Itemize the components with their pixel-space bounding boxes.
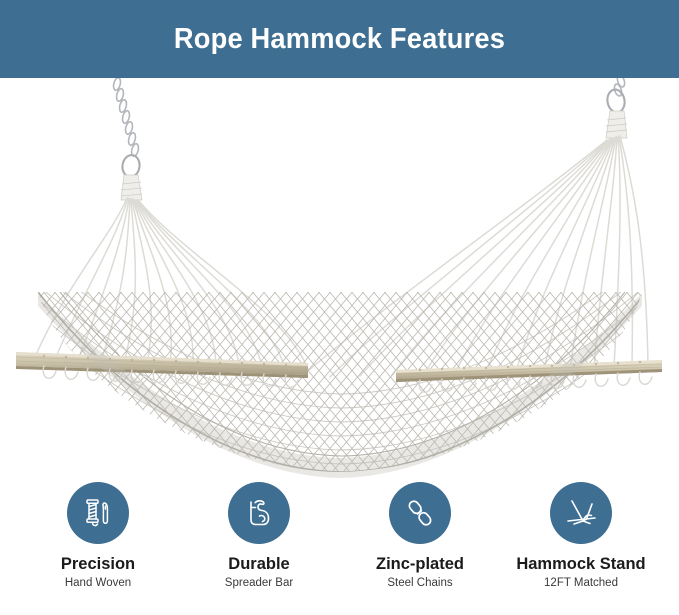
- feature-title: Durable: [228, 555, 289, 573]
- chain-links-icon: [402, 495, 438, 531]
- flexed-bicep-icon: [241, 495, 277, 531]
- feature-icon-badge: [228, 482, 290, 544]
- left-chain: [112, 78, 141, 178]
- right-chain: [606, 78, 627, 114]
- feature-title: Precision: [61, 555, 135, 573]
- feature-item-durable[interactable]: Durable Spreader Bar: [179, 482, 339, 591]
- right-gather-knot: [606, 111, 627, 138]
- thread-spool-needle-icon: [80, 495, 116, 531]
- feature-icon-badge: [67, 482, 129, 544]
- feature-list: Precision Hand Woven Durable Spreader Ba…: [0, 482, 679, 615]
- feature-subtitle: 12FT Matched: [544, 577, 618, 591]
- feature-item-hammock-stand[interactable]: Hammock Stand 12FT Matched: [501, 482, 661, 591]
- feature-icon-badge: [550, 482, 612, 544]
- feature-title: Zinc-plated: [376, 555, 464, 573]
- feature-item-zinc-plated[interactable]: Zinc-plated Steel Chains: [340, 482, 500, 591]
- feature-title: Hammock Stand: [516, 555, 645, 573]
- feature-subtitle: Steel Chains: [387, 577, 452, 591]
- feature-icon-badge: [389, 482, 451, 544]
- feature-subtitle: Hand Woven: [65, 577, 131, 591]
- feature-item-precision[interactable]: Precision Hand Woven: [18, 482, 178, 591]
- hammock-illustration: [0, 78, 679, 478]
- feature-subtitle: Spreader Bar: [225, 577, 293, 591]
- hammock-stand-icon: [562, 494, 600, 532]
- page-title: Rope Hammock Features: [20, 0, 658, 78]
- hammock-hero-image: [0, 78, 679, 478]
- left-gather-knot: [121, 175, 142, 200]
